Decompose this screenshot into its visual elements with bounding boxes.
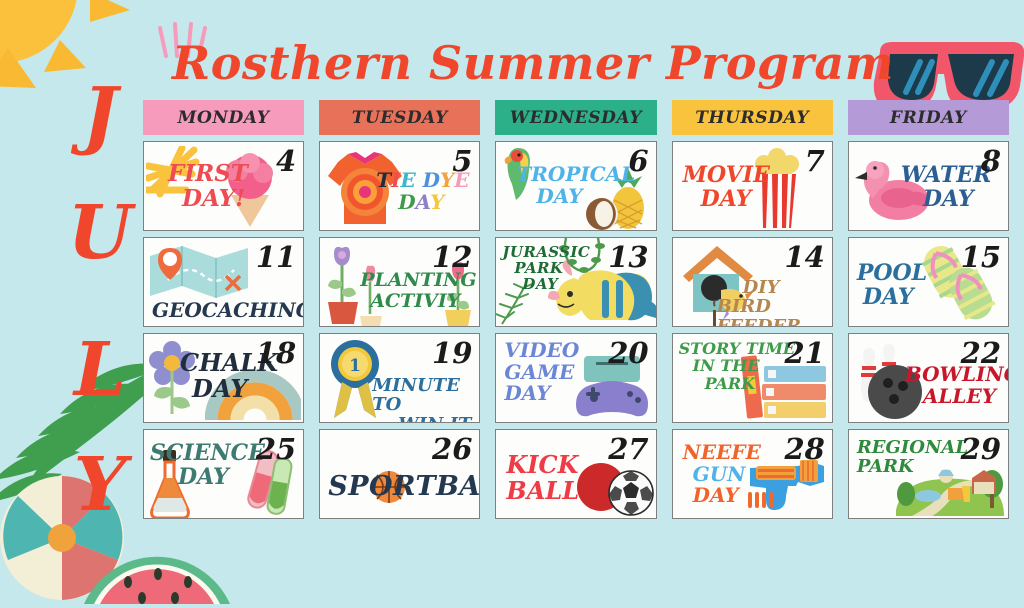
calendar-week-row: 25 SCIENCE DAY 26 SPORTBALL	[143, 429, 1009, 519]
tie-dye-letter: Y	[430, 190, 444, 214]
weekday-label: FRIDAY	[890, 108, 967, 128]
day-cell-25[interactable]: 25 SCIENCE DAY	[143, 429, 304, 519]
day-cell-19[interactable]: 1 19 MINUTE TO WIN IT	[319, 333, 480, 423]
day-number: 21	[784, 339, 824, 368]
weekday-label: THURSDAY	[695, 108, 809, 128]
day-number: 5	[452, 147, 472, 176]
calendar-week-row: 18 CHALK DAY 1	[143, 333, 1009, 423]
weekday-header-monday: MONDAY	[143, 100, 304, 135]
day-cell-5[interactable]: 5 TIE DYEDAY	[319, 141, 480, 231]
event-title: MINUTE TO WIN IT	[372, 376, 479, 423]
day-cell-22[interactable]: 22 BOWLING ALLEY	[848, 333, 1009, 423]
day-number: 14	[784, 243, 824, 272]
day-cell-11[interactable]: 11 GEOCACHING	[143, 237, 304, 327]
month-label-july: J U L Y	[60, 78, 140, 548]
weekday-header-tuesday: TUESDAY	[319, 100, 480, 135]
day-number: 13	[608, 243, 648, 272]
event-title: KICK BALL	[506, 452, 579, 504]
event-title: REGIONAL PARK	[857, 438, 968, 477]
weekday-label: TUESDAY	[352, 108, 448, 128]
day-cell-13[interactable]: 13 JURASSIC PARK DAY	[495, 237, 656, 327]
event-title: TROPICAL DAY	[516, 164, 635, 207]
event-title: WATER DAY	[901, 164, 992, 212]
poster-canvas: J U L Y Rosthern Summer Program MONDAY T…	[0, 0, 1024, 577]
calendar-week-row: 11 GEOCACHING	[143, 237, 1009, 327]
day-number: 27	[608, 435, 648, 464]
event-title: MOVIE DAY	[683, 164, 770, 212]
event-title: FIRST DAY!	[168, 162, 248, 212]
weekday-header-wednesday: WEDNESDAY	[495, 100, 656, 135]
tie-dye-letter: T	[376, 168, 391, 192]
month-letter-y: Y	[60, 448, 140, 522]
day-cell-18[interactable]: 18 CHALK DAY	[143, 333, 304, 423]
day-cell-21[interactable]: 21 STORY TIME IN THE PARK	[672, 333, 833, 423]
day-number: 18	[256, 339, 296, 368]
event-title: JURASSIC PARK DAY	[502, 244, 590, 293]
day-number: 15	[961, 243, 1001, 272]
day-number: 11	[256, 243, 296, 272]
event-title: SPORTBALL	[328, 472, 480, 501]
day-number: 7	[805, 147, 825, 176]
day-number: 22	[961, 339, 1001, 368]
day-cell-27[interactable]: 27 KICK BALL	[495, 429, 656, 519]
event-title: PLANTING ACTIVIY	[360, 270, 476, 311]
day-number: 29	[961, 435, 1001, 464]
page-title: Rosthern Summer Program	[172, 34, 902, 96]
tie-dye-letter: D	[423, 168, 440, 192]
event-title: BOWLING ALLEY	[905, 364, 1009, 407]
event-title: DIY BIRD FEEDER	[717, 278, 832, 327]
day-number: 6	[628, 147, 648, 176]
day-cell-6[interactable]: 6 TROPICAL DAY	[495, 141, 656, 231]
day-number: 4	[276, 147, 296, 176]
day-cell-29[interactable]: 29 REGIONAL PARK	[848, 429, 1009, 519]
event-title: STORY TIME IN THE PARK	[679, 340, 796, 392]
day-cell-28[interactable]: 28 NEEFE GUN DAY	[672, 429, 833, 519]
day-cell-15[interactable]: 15 POOL DAY	[848, 237, 1009, 327]
soccer-ball-icon	[608, 470, 654, 516]
tie-dye-letter: A	[416, 190, 431, 214]
day-cell-8[interactable]: 8 WATER DAY	[848, 141, 1009, 231]
event-title: SCIENCE DAY	[150, 442, 265, 490]
day-number: 12	[432, 243, 472, 272]
month-letter-l: L	[60, 333, 140, 407]
day-cell-7[interactable]: 7 MOVIE DAY	[672, 141, 833, 231]
day-number: 28	[784, 435, 824, 464]
event-title: NEEFE GUN DAY	[683, 442, 761, 507]
treasure-map-icon	[148, 242, 252, 302]
svg-text:1: 1	[349, 356, 361, 376]
event-title: POOL DAY	[857, 262, 927, 310]
weekday-label: WEDNESDAY	[510, 108, 642, 128]
day-number: 19	[432, 339, 472, 368]
calendar-week-row: 4 FIRST DAY! 5 TIE DYEDAY	[143, 141, 1009, 231]
day-cell-4[interactable]: 4 FIRST DAY!	[143, 141, 304, 231]
weekday-header-row: MONDAY TUESDAY WEDNESDAY THURSDAY FRIDAY	[143, 100, 1009, 135]
weekday-label: MONDAY	[178, 108, 270, 128]
tie-dye-letter: D	[398, 190, 415, 214]
day-cell-12[interactable]: 12 PLANTING ACTIVIY	[319, 237, 480, 327]
day-cell-20[interactable]: 20 VIDEO GAME DAY	[495, 333, 656, 423]
day-number: 26	[432, 435, 472, 464]
event-title: GEOCACHING	[152, 300, 304, 322]
event-title: VIDEO GAME DAY	[504, 340, 579, 405]
tie-dye-letter	[416, 168, 423, 192]
day-number: 20	[608, 339, 648, 368]
tie-dye-letter: E	[400, 168, 415, 192]
day-cell-14[interactable]: 14 DIY BIRD FEEDER	[672, 237, 833, 327]
calendar-grid: MONDAY TUESDAY WEDNESDAY THURSDAY FRIDAY	[143, 100, 1009, 545]
month-letter-u: U	[60, 196, 140, 270]
weekday-header-friday: FRIDAY	[848, 100, 1009, 135]
weekday-header-thursday: THURSDAY	[672, 100, 833, 135]
day-cell-26[interactable]: 26 SPORTBALL	[319, 429, 480, 519]
month-letter-j: J	[60, 78, 140, 152]
day-number: 8	[981, 147, 1001, 176]
day-number: 25	[256, 435, 296, 464]
